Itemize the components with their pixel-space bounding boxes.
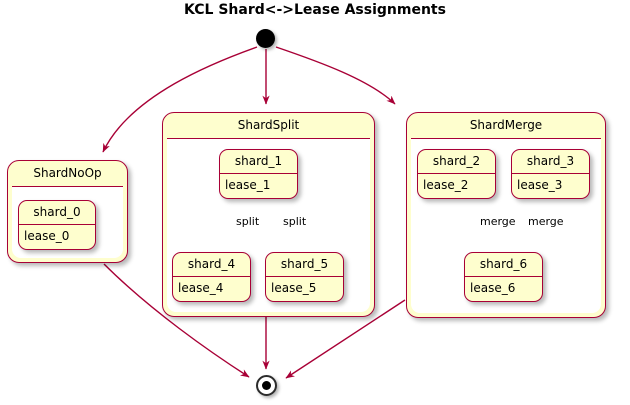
composite-title-shardmerge: ShardMerge — [407, 113, 605, 138]
state-attr-lease-3: lease_3 — [512, 174, 589, 198]
state-name-shard-0: shard_0 — [19, 201, 95, 225]
initial-state — [256, 29, 275, 48]
composite-title-shardnoop: ShardNoOp — [8, 161, 127, 186]
state-attr-lease-1: lease_1 — [220, 174, 297, 198]
edge-label-split-left: split — [236, 215, 259, 228]
edge-label-split-right: split — [283, 215, 306, 228]
final-state — [256, 375, 277, 396]
state-attr-lease-4: lease_4 — [173, 277, 250, 301]
state-shard-4[interactable]: shard_4 lease_4 — [172, 252, 251, 302]
state-shard-5[interactable]: shard_5 lease_5 — [265, 252, 344, 302]
edge-label-merge-left: merge — [480, 215, 516, 228]
state-shard-2[interactable]: shard_2 lease_2 — [417, 149, 496, 199]
state-attr-lease-0: lease_0 — [19, 225, 95, 249]
state-name-shard-5: shard_5 — [266, 253, 343, 277]
state-attr-lease-5: lease_5 — [266, 277, 343, 301]
composite-title-shardsplit: ShardSplit — [163, 113, 374, 138]
edge-label-merge-right: merge — [528, 215, 564, 228]
state-shard-1[interactable]: shard_1 lease_1 — [219, 149, 298, 199]
state-attr-lease-2: lease_2 — [418, 174, 495, 198]
edge-start-to-shardmerge — [276, 47, 395, 104]
state-name-shard-3: shard_3 — [512, 150, 589, 174]
state-name-shard-6: shard_6 — [465, 253, 542, 277]
state-attr-lease-6: lease_6 — [465, 277, 542, 301]
state-shard-3[interactable]: shard_3 lease_3 — [511, 149, 590, 199]
state-shard-0[interactable]: shard_0 lease_0 — [18, 200, 96, 250]
state-name-shard-4: shard_4 — [173, 253, 250, 277]
state-name-shard-1: shard_1 — [220, 150, 297, 174]
state-shard-6[interactable]: shard_6 lease_6 — [464, 252, 543, 302]
state-name-shard-2: shard_2 — [418, 150, 495, 174]
state-diagram-canvas: KCL Shard<->Lease Assignments — [0, 0, 630, 405]
